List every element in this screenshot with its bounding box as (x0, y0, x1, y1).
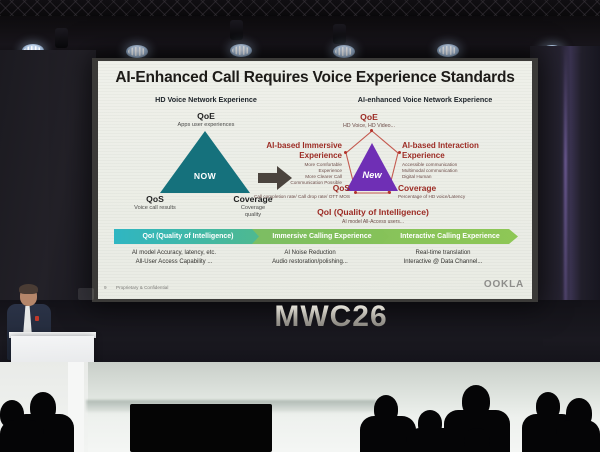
wall-logo (78, 288, 94, 300)
presentation-slide: AI-Enhanced Call Requires Voice Experien… (98, 61, 532, 299)
presentation-photo: AI-Enhanced Call Requires Voice Experien… (0, 0, 600, 452)
left-qos-title: QoS (112, 194, 198, 204)
qoi-bottom-sub: AI model All-Access users... (298, 219, 448, 225)
stage-monitor (130, 404, 272, 452)
chevron-interactive[interactable]: Interactive Calling Experience (382, 229, 518, 244)
vertex-dot (398, 151, 401, 154)
mwc-brand-text: MWC26 (236, 300, 426, 334)
right-qos-sub: Call completion rate/ Call drop rate/ OT… (234, 194, 350, 200)
left-qoe-title: QoE (158, 111, 254, 121)
left-qos-sub: Voice call results (112, 205, 198, 211)
ai-immersive-title: AI-based Immersive Experience (228, 141, 342, 161)
audience-shoulders (556, 420, 600, 452)
qoi-bottom-label: QoI (Quality of Intelligence) AI model A… (298, 207, 448, 225)
left-section-heading: HD Voice Network Experience (116, 95, 296, 104)
audience-head (464, 428, 490, 452)
qoi-bottom-title: QoI (Quality of Intelligence) (298, 207, 448, 217)
chevron-band: QoI (Quality of Intelligence) Immersive … (114, 229, 518, 244)
right-coverage-label: Coverage Percentage of HD voice/Latency (398, 183, 518, 200)
spotlight-housing (230, 20, 243, 40)
ceiling-light (333, 45, 355, 58)
new-triangle (346, 143, 398, 191)
ceiling-truss (0, 0, 600, 16)
chevron-qoi[interactable]: QoI (Quality of Intelligence) (114, 229, 262, 244)
chevron-caption-qoi: AI model Accuracy, latency, etc. All-Use… (104, 249, 244, 268)
audience-shoulders (0, 420, 44, 452)
left-coverage-sub: Coverage quality (210, 205, 296, 219)
presenter-badge (35, 316, 39, 321)
right-qos-title: QoS (234, 183, 350, 193)
ai-immersive-experience-label: AI-based Immersive Experience More Comfo… (228, 141, 342, 186)
ai-interaction-title: AI-based Interaction Experience (402, 141, 520, 161)
left-qos-label: QoS Voice call results (112, 194, 198, 211)
ceiling-light (230, 44, 252, 57)
spotlight-housing (333, 24, 346, 44)
chevron-caption-interactive: Real-time translation Interactive @ Data… (376, 249, 510, 268)
right-qoe-label: QoE HD Voice, HD Video... (314, 112, 424, 129)
right-qoe-title: QoE (314, 112, 424, 122)
right-qos-label: QoS Call completion rate/ Call drop rate… (234, 183, 350, 200)
ceiling-light (126, 45, 148, 58)
slide-page-number: 9 (104, 285, 107, 290)
right-coverage-sub: Percentage of HD voice/Latency (398, 194, 518, 200)
slide-title: AI-Enhanced Call Requires Voice Experien… (112, 69, 518, 87)
chevron-caption-immersive: AI Noise Reduction Audio restoration/pol… (244, 249, 376, 268)
ai-interaction-sub: Accessible communication Multimodal comm… (402, 162, 520, 181)
left-qoe-sub: Apps user experiences (158, 122, 254, 128)
chevron-immersive[interactable]: Immersive Calling Experience (252, 229, 392, 244)
ookla-logo: OOKLA (484, 279, 524, 290)
new-triangle-label: New (346, 169, 398, 180)
left-qoe-label: QoE Apps user experiences (158, 111, 254, 128)
presenter-hair (19, 284, 38, 294)
ceiling-light (437, 44, 459, 57)
ai-interaction-experience-label: AI-based Interaction Experience Accessib… (402, 141, 520, 180)
right-section-heading: AI-enhanced Voice Network Experience (330, 95, 520, 104)
confidentiality-notice: Proprietary & Confidential (116, 285, 168, 290)
right-coverage-title: Coverage (398, 183, 518, 193)
spotlight-housing (55, 28, 68, 48)
